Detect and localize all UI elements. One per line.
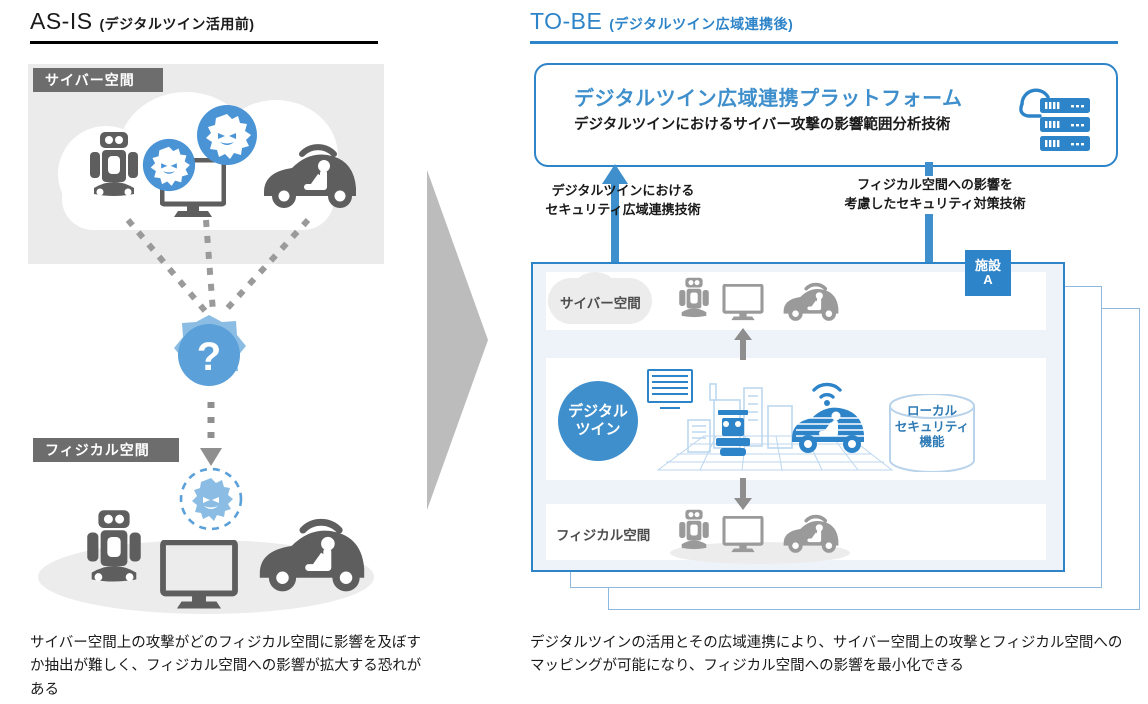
arrow-left-label-line2: セキュリティ広域連携技術 [528, 201, 718, 220]
platform-title: デジタルツイン広域連携プラットフォーム [574, 82, 1034, 111]
tobe-caption: デジタルツインの活用とその広域連携により、サイバー空間上の攻撃とフィジカル空間へ… [530, 632, 1132, 679]
virus-icon [196, 104, 258, 166]
tobe-heading-sub: (デジタルツイン広域連携後) [609, 16, 793, 32]
digital-twin-line1: デジタル [568, 403, 628, 421]
asis-cyber-tag-label: サイバー空間 [45, 70, 135, 90]
virus-icon-outline [178, 466, 244, 532]
arrow-left-label: デジタルツインにおける セキュリティ広域連携技術 [528, 182, 718, 220]
connected-car-icon [780, 504, 842, 554]
digital-twin-circle: デジタル ツイン [558, 381, 638, 461]
monitor-icon [160, 540, 238, 612]
monitor-icon [722, 516, 764, 554]
connected-car-icon [253, 498, 371, 594]
digital-twin-city-scene [646, 366, 896, 474]
robot-icon [678, 508, 710, 552]
asis-down-arrow [196, 400, 226, 472]
cloud-server-icon [1014, 76, 1096, 154]
asis-physical-tag-label: フィジカル空間 [45, 440, 150, 460]
connected-car-icon [258, 126, 362, 210]
tobe-cyber-band-label: サイバー空間 [560, 292, 641, 312]
asis-heading-rule [30, 41, 378, 44]
arrow-left-label-line1: デジタルツインにおける [528, 182, 718, 201]
up-arrow-inner [732, 328, 754, 360]
asis-heading-sub: (デジタルツイン活用前) [99, 16, 254, 32]
question-badge: ? [166, 312, 252, 398]
arrow-right-label-line2: 考慮したセキュリティ対策技術 [830, 195, 1040, 214]
local-security-label: ローカル セキュリティ 機能 [886, 404, 978, 451]
asis-cyber-tag: サイバー空間 [33, 68, 163, 92]
facility-tab-a-label-top: 施設 [975, 259, 1001, 273]
connected-car-icon [780, 272, 842, 322]
local-security-line2: セキュリティ [886, 420, 978, 436]
arrow-right-label: フィジカル空間への影響を 考慮したセキュリティ対策技術 [830, 176, 1040, 214]
facility-tab-a-label-bottom: A [983, 273, 992, 287]
asis-caption: サイバー空間上の攻撃がどのフィジカル空間に影響を及ぼすか抽出が難しく、フィジカル… [30, 632, 434, 702]
facility-tab-a[interactable]: 施設 A [965, 250, 1011, 296]
down-arrow-inner [732, 478, 754, 510]
local-security-line3: 機能 [886, 435, 978, 451]
virus-icon [142, 138, 196, 192]
monitor-icon [722, 284, 764, 322]
platform-subtitle: デジタルツインにおけるサイバー攻撃の影響範囲分析技術 [574, 113, 1044, 134]
asis-heading: AS-IS (デジタルツイン活用前) [30, 8, 255, 35]
tobe-physical-band-label: フィジカル空間 [556, 524, 650, 544]
arrow-right-label-line1: フィジカル空間への影響を [830, 176, 1040, 195]
tobe-heading-main: TO-BE [530, 8, 602, 34]
robot-icon [85, 508, 143, 586]
digital-twin-line2: ツイン [575, 421, 620, 439]
robot-icon [88, 130, 140, 200]
asis-dashed-connectors [28, 200, 384, 330]
question-mark-label: ? [197, 335, 221, 379]
local-security-line1: ローカル [886, 404, 978, 420]
right-chevron-icon [400, 140, 530, 540]
tobe-heading: TO-BE (デジタルツイン広域連携後) [530, 8, 793, 35]
tobe-heading-rule [530, 41, 1118, 44]
asis-physical-tag: フィジカル空間 [33, 438, 179, 462]
asis-heading-main: AS-IS [30, 8, 93, 34]
robot-icon [678, 276, 710, 320]
